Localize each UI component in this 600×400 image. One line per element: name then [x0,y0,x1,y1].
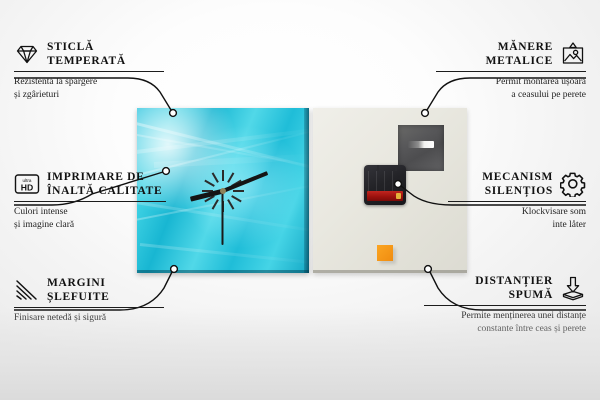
hour-tick [231,195,242,202]
callout-glass-rule [14,71,164,72]
product-photo [137,108,467,273]
callout-edges: MARGINI ȘLEFUITE Finisare netedă și sigu… [14,276,164,325]
hour-tick [204,179,215,186]
callout-handles-desc: Permit montarea ușoară a ceasului pe per… [436,76,586,101]
callout-spacer-desc: Permite menținerea unei distanțe constan… [424,310,586,335]
callout-edges-desc: Finisare netedă și sigură [14,312,164,325]
diamond-icon [14,41,40,67]
callout-handles-rule [436,71,586,72]
callout-print-desc: Culori intense și imagine clară [14,206,166,231]
hour-tick [227,172,234,183]
glass-edge-right [304,108,309,273]
clock-hub [220,188,226,194]
callout-edges-head: MARGINI ȘLEFUITE [14,276,164,304]
quartz-mechanism [364,165,406,205]
callout-print-rule [14,201,166,202]
second-hand [222,191,224,245]
hour-tick [212,199,219,210]
callout-handles: MĂNERE METALICE Permit montarea ușoară a… [436,40,586,101]
callout-movement-desc: Klockvisare som inte låter [448,206,586,231]
product-feature-infographic: STICLĂ TEMPERATĂ Rezistentă la spargere … [0,0,600,400]
callout-movement-rule [448,201,586,202]
callout-handles-head: MĂNERE METALICE [436,40,586,68]
picture-hanger-icon [560,41,586,67]
callout-glass: STICLĂ TEMPERATĂ Rezistentă la spargere … [14,40,164,101]
callout-glass-desc: Rezistentă la spargere și zgârieturi [14,76,164,101]
foam-spacer [377,245,393,261]
clock-back-panel [313,108,467,273]
callout-spacer-rule [424,305,586,306]
callout-spacer: DISTANȚIER SPUMĂ Permite menținerea unei… [424,274,586,335]
hour-tick [222,170,224,181]
callout-spacer-title: DISTANȚIER SPUMĂ [475,274,553,302]
callout-edges-title: MARGINI ȘLEFUITE [47,276,109,304]
hanger-plate [398,125,444,171]
hour-tick [227,199,234,210]
callout-glass-head: STICLĂ TEMPERATĂ [14,40,164,68]
hour-tick [212,172,219,183]
callout-movement-head: MECANISM SILENȚIOS [448,170,586,198]
callout-edges-rule [14,307,164,308]
hanging-loop [377,165,397,171]
gear-icon [560,171,586,197]
polished-edges-icon [14,277,40,303]
battery [367,191,403,201]
callout-handles-title: MĂNERE METALICE [486,40,553,68]
foam-spacer-icon [560,275,586,301]
hanger-slot [408,141,434,148]
ultra-hd-icon: ultra HD [14,171,40,197]
svg-text:HD: HD [21,182,33,192]
callout-print: ultra HD IMPRIMARE DE ÎNALTĂ CALITATE Cu… [14,170,166,231]
callout-movement: MECANISM SILENȚIOS Klockvisare som inte … [448,170,586,231]
callout-glass-title: STICLĂ TEMPERATĂ [47,40,126,68]
callout-print-title: IMPRIMARE DE ÎNALTĂ CALITATE [47,170,162,198]
back-panel-edge-bottom [313,270,467,273]
callout-print-head: ultra HD IMPRIMARE DE ÎNALTĂ CALITATE [14,170,166,198]
hour-tick [233,190,244,192]
glass-edge-bottom [137,270,309,273]
callout-movement-title: MECANISM SILENȚIOS [482,170,553,198]
callout-spacer-head: DISTANȚIER SPUMĂ [424,274,586,302]
